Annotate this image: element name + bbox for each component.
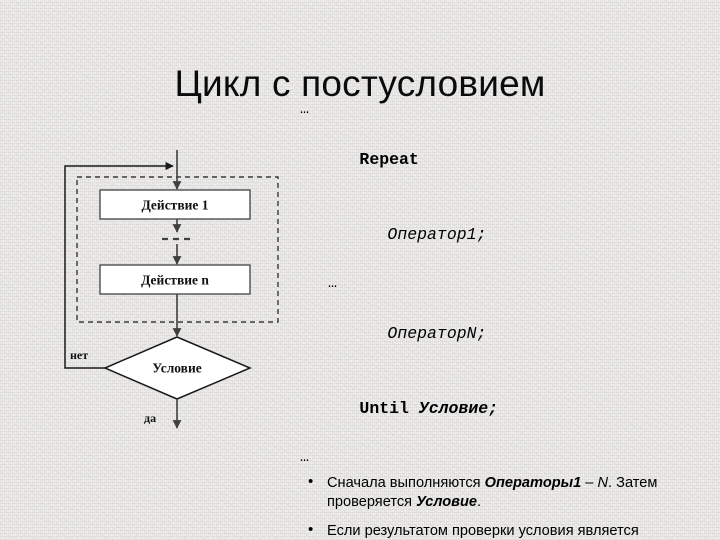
code-line-operator-1: Оператор1;	[300, 197, 700, 272]
pseudocode-block: … Repeat Оператор1; … ОператорN; Until У…	[300, 98, 700, 446]
keyword-repeat: Repeat	[359, 150, 418, 169]
code-line-until: Until Условие;	[300, 371, 700, 446]
edge-label-yes: да	[144, 411, 156, 425]
emphasis-italic: N	[597, 475, 608, 491]
code-line-inner-ellipsis: …	[300, 272, 700, 296]
list-item: Сначала выполняются Операторы1 – N. Зате…	[300, 474, 700, 511]
keyword-until: Until	[359, 399, 418, 418]
edge-label-no: нет	[70, 348, 88, 362]
until-condition-text: Условие;	[419, 399, 498, 418]
explanation-bullet-list: Сначала выполняются Операторы1 – N. Зате…	[300, 474, 700, 540]
emphasis-bold-italic: Операторы1	[485, 475, 582, 491]
operator-n-text: ОператорN;	[387, 324, 486, 343]
code-line-repeat: Repeat	[300, 122, 700, 197]
code-line-operator-n: ОператорN;	[300, 296, 700, 371]
emphasis-bold-italic: Условие	[416, 494, 477, 510]
action-box-1-label: Действие 1	[141, 198, 208, 213]
decision-label: Условие	[152, 361, 202, 376]
action-box-n-label: Действие n	[141, 273, 209, 288]
content-column: … Repeat Оператор1; … ОператорN; Until У…	[300, 98, 700, 540]
flowchart-diagram: Действие 1 Действие n Условие нет да	[40, 140, 310, 440]
trailing-ellipsis: …	[300, 448, 700, 468]
list-item: Если результатом проверки условия являет…	[300, 522, 700, 540]
operator-1-text: Оператор1;	[387, 225, 486, 244]
code-line-leading-ellipsis: …	[300, 98, 700, 122]
